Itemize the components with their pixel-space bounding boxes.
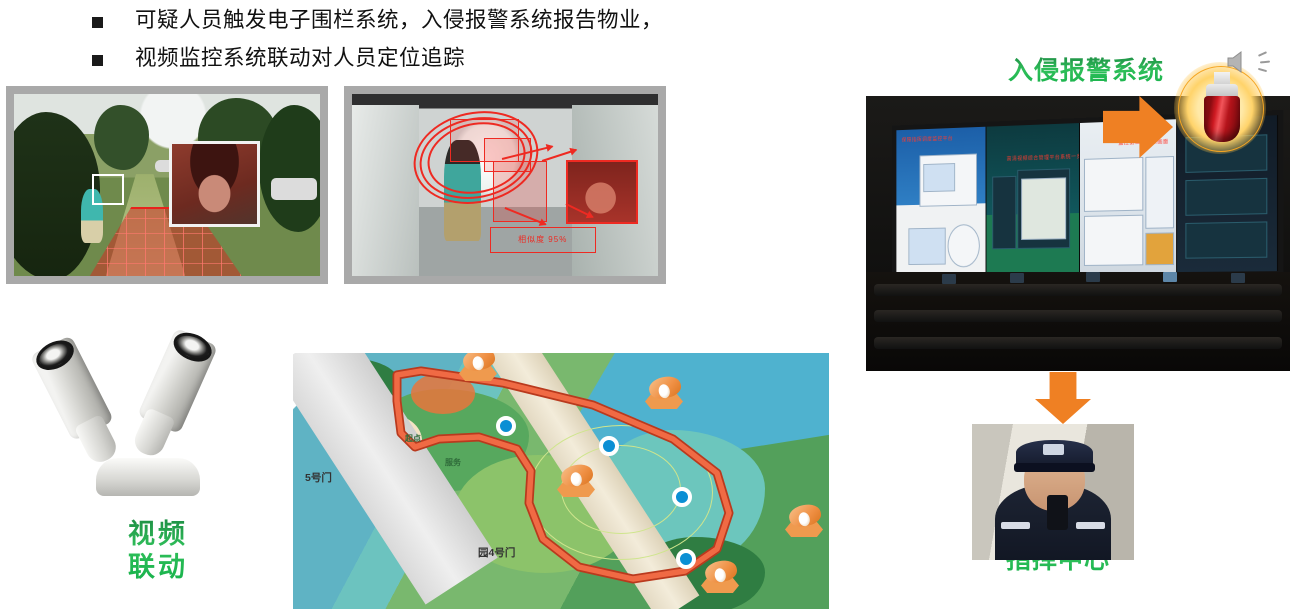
map-person-marker[interactable] xyxy=(599,436,619,456)
officer-epaulet xyxy=(1076,522,1105,529)
marker-lens xyxy=(797,511,811,527)
screen-map xyxy=(1021,177,1066,239)
map-gate-label: 5号门 xyxy=(305,470,332,485)
map-camera-marker[interactable] xyxy=(701,561,741,593)
sound-wave-icon xyxy=(1258,51,1267,56)
desk-row xyxy=(874,337,1281,349)
face-detection-box xyxy=(92,174,124,205)
officer-epaulet xyxy=(1001,522,1030,529)
desk-monitor xyxy=(1231,273,1245,283)
desk-monitor xyxy=(1163,272,1177,282)
desk-monitor xyxy=(1086,272,1100,282)
screen-radar xyxy=(948,224,981,267)
arrow-down-to-command-icon xyxy=(1035,372,1091,424)
screen-window xyxy=(992,176,1016,249)
sound-wave-icon xyxy=(1260,60,1270,63)
officer-cap-brim xyxy=(1014,463,1095,471)
bullet-text: 视频监控系统联动对人员定位追踪 xyxy=(135,44,465,73)
photo-officer xyxy=(972,424,1134,560)
map-camera-marker[interactable] xyxy=(459,353,499,381)
label-video-linkage: 视频 联动 xyxy=(128,518,188,584)
intrusion-alarm-badge xyxy=(1166,44,1286,156)
map-camera-marker[interactable] xyxy=(557,465,597,497)
bullet-text: 可疑人员触发电子围栏系统，入侵报警系统报告物业， xyxy=(135,6,663,35)
corridor-scene: 相似度 95% xyxy=(352,94,658,276)
map-camera-marker[interactable] xyxy=(785,505,825,537)
camera-base-mount xyxy=(96,458,200,496)
map-camera-marker[interactable] xyxy=(645,377,685,409)
car-icon xyxy=(271,178,317,200)
photo-corridor-tracking: 相似度 95% xyxy=(344,86,666,284)
walkie-talkie-icon xyxy=(1047,495,1068,530)
cctv-camera-icon xyxy=(30,334,131,470)
bullet-list: 可疑人员触发电子围栏系统，入侵报警系统报告物业， 视频监控系统联动对人员定位追踪 xyxy=(92,6,812,82)
list-item: 视频监控系统联动对人员定位追踪 xyxy=(92,44,812,73)
screen-window xyxy=(923,163,955,192)
screen-alert-panel xyxy=(1145,232,1174,265)
screen-window xyxy=(909,227,946,264)
screen-banner-text: 保障指挥调度监控平台 xyxy=(902,135,953,144)
face-closeup-inset xyxy=(169,141,261,227)
screen-window xyxy=(1084,214,1143,265)
cap-badge-icon xyxy=(1043,444,1064,455)
map-person-marker[interactable] xyxy=(676,549,696,569)
tree-icon xyxy=(94,105,149,171)
desk-row xyxy=(874,284,1281,296)
cctv-camera-icon xyxy=(124,328,220,464)
slide-canvas: 可疑人员触发电子围栏系统，入侵报警系统报告物业， 视频监控系统联动对人员定位追踪 xyxy=(0,0,1300,609)
map-gate-label: 园4号门 xyxy=(478,545,515,560)
screen-window xyxy=(1185,221,1267,258)
desk-monitor xyxy=(942,274,956,284)
screen-window xyxy=(1185,178,1267,216)
screen-window xyxy=(1084,157,1143,212)
marker-lens xyxy=(657,383,671,399)
map-person-marker[interactable] xyxy=(496,416,516,436)
marker-lens xyxy=(471,355,485,371)
operator-desks xyxy=(866,272,1290,371)
sound-wave-icon xyxy=(1258,68,1267,72)
corridor-wall-left xyxy=(352,105,419,276)
wall-screen: 高清视频综合管理平台系统一览监控图 xyxy=(987,123,1081,273)
map-path-label: 起点 xyxy=(405,433,421,444)
alarm-light-icon xyxy=(1204,96,1240,142)
screen-window xyxy=(1145,156,1174,229)
cctv-camera-pair xyxy=(22,332,272,504)
desk-monitor xyxy=(1010,273,1024,283)
marker-lens xyxy=(713,567,727,583)
square-bullet-icon xyxy=(92,55,103,66)
similarity-label: 相似度 95% xyxy=(490,227,596,253)
label-alarm-system: 入侵报警系统 xyxy=(1008,56,1164,87)
park-fence-map: 5号门 园4号门 起点 服务 xyxy=(293,353,829,609)
tracking-face-closeup xyxy=(566,160,637,224)
wall-screen: 保障指挥调度监控平台 xyxy=(896,127,986,275)
screen-banner-text: 高清视频综合管理平台系统一览监控图 xyxy=(1007,152,1081,162)
map-path-label: 服务 xyxy=(445,457,461,468)
speaker-horn-icon xyxy=(1226,50,1256,74)
tree-icon xyxy=(259,105,320,232)
photo-fence-detection xyxy=(6,86,328,284)
outdoor-scene xyxy=(14,94,320,276)
square-bullet-icon xyxy=(92,17,103,28)
marker-lens xyxy=(569,471,583,487)
desk-row xyxy=(874,310,1281,322)
map-person-marker[interactable] xyxy=(672,487,692,507)
list-item: 可疑人员触发电子围栏系统，入侵报警系统报告物业， xyxy=(92,6,812,35)
